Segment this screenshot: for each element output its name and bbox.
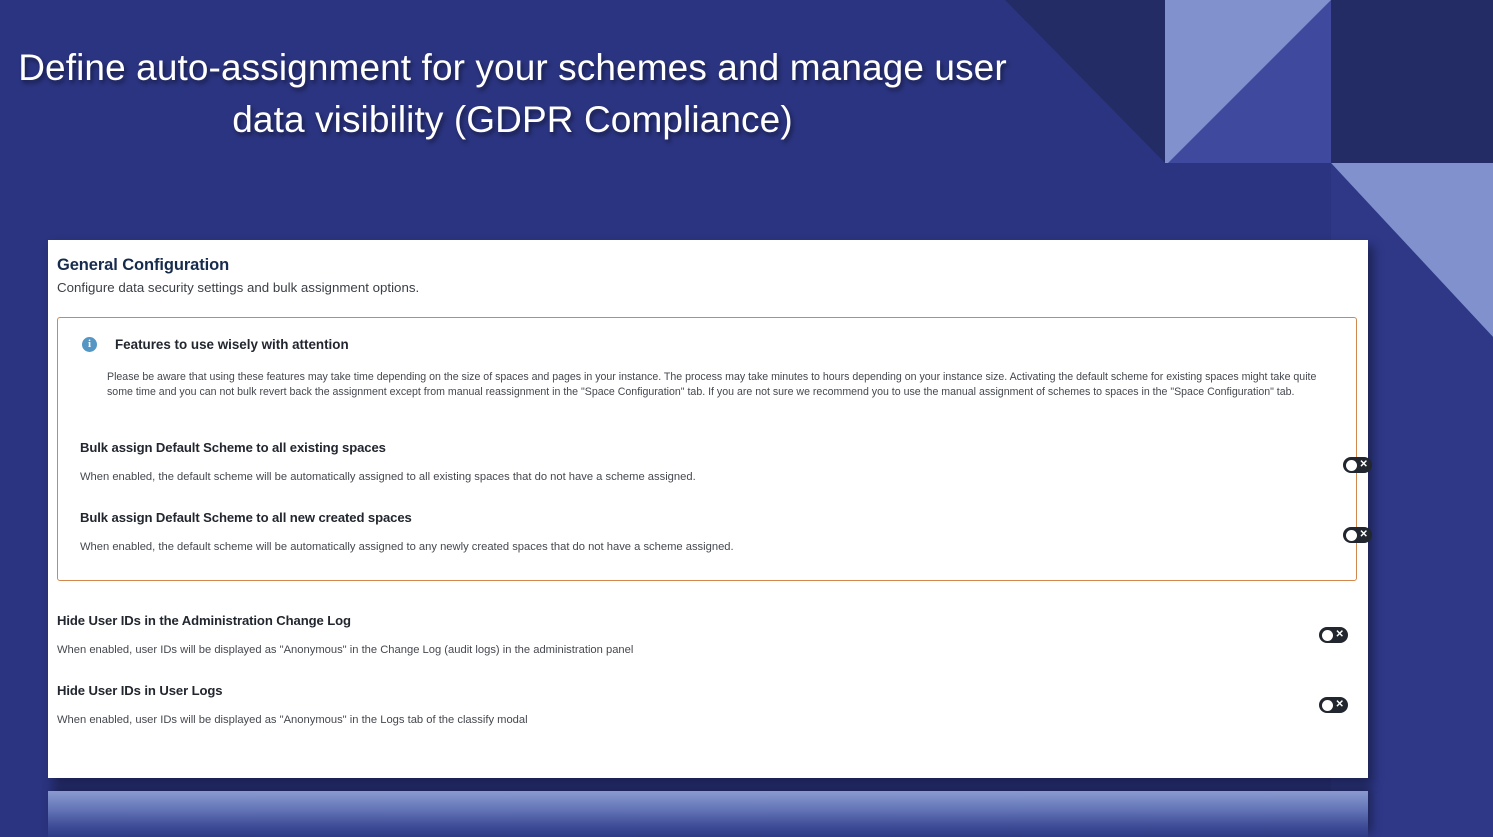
setting-bulk-assign-existing-spaces: Bulk assign Default Scheme to all existi… (80, 440, 1230, 483)
card-header: General Configuration Configure data sec… (48, 240, 1368, 295)
toggle-hide-user-ids-change-log[interactable]: ✕ (1319, 627, 1348, 643)
hero-headline: Define auto-assignment for your schemes … (0, 42, 1025, 146)
card-title: General Configuration (57, 256, 1368, 275)
setting-hide-user-ids-user-logs: Hide User IDs in User Logs When enabled,… (57, 683, 1287, 726)
close-icon: ✕ (1360, 530, 1368, 540)
close-icon: ✕ (1360, 460, 1368, 470)
setting-label: Hide User IDs in the Administration Chan… (57, 613, 1287, 628)
info-panel-header: i Features to use wisely with attention (58, 318, 1356, 352)
toggle-bulk-assign-existing-spaces[interactable]: ✕ (1343, 457, 1372, 473)
toggle-knob (1322, 700, 1333, 711)
close-icon: ✕ (1336, 700, 1344, 710)
setting-description: When enabled, the default scheme will be… (80, 471, 1230, 483)
info-panel-body: Please be aware that using these feature… (107, 370, 1332, 400)
setting-description: When enabled, user IDs will be displayed… (57, 714, 1287, 726)
info-panel: i Features to use wisely with attention … (57, 317, 1357, 581)
setting-hide-user-ids-change-log: Hide User IDs in the Administration Chan… (57, 613, 1287, 656)
toggle-knob (1346, 530, 1357, 541)
toggle-knob (1322, 630, 1333, 641)
info-icon-glyph: i (88, 339, 91, 350)
close-icon: ✕ (1336, 630, 1344, 640)
toggle-knob (1346, 460, 1357, 471)
setting-label: Hide User IDs in User Logs (57, 683, 1287, 698)
setting-label: Bulk assign Default Scheme to all existi… (80, 440, 1230, 455)
toggle-hide-user-ids-user-logs[interactable]: ✕ (1319, 697, 1348, 713)
card-subtitle: Configure data security settings and bul… (57, 280, 1368, 295)
toggle-bulk-assign-new-spaces[interactable]: ✕ (1343, 527, 1372, 543)
general-configuration-card: General Configuration Configure data sec… (48, 240, 1368, 778)
setting-label: Bulk assign Default Scheme to all new cr… (80, 510, 1230, 525)
setting-bulk-assign-new-spaces: Bulk assign Default Scheme to all new cr… (80, 510, 1230, 553)
setting-description: When enabled, user IDs will be displayed… (57, 644, 1287, 656)
setting-description: When enabled, the default scheme will be… (80, 541, 1230, 553)
bottom-gradient-bar (48, 791, 1368, 837)
info-icon: i (82, 337, 97, 352)
page-title: Define auto-assignment for your schemes … (0, 42, 1025, 146)
info-panel-heading: Features to use wisely with attention (115, 337, 349, 352)
